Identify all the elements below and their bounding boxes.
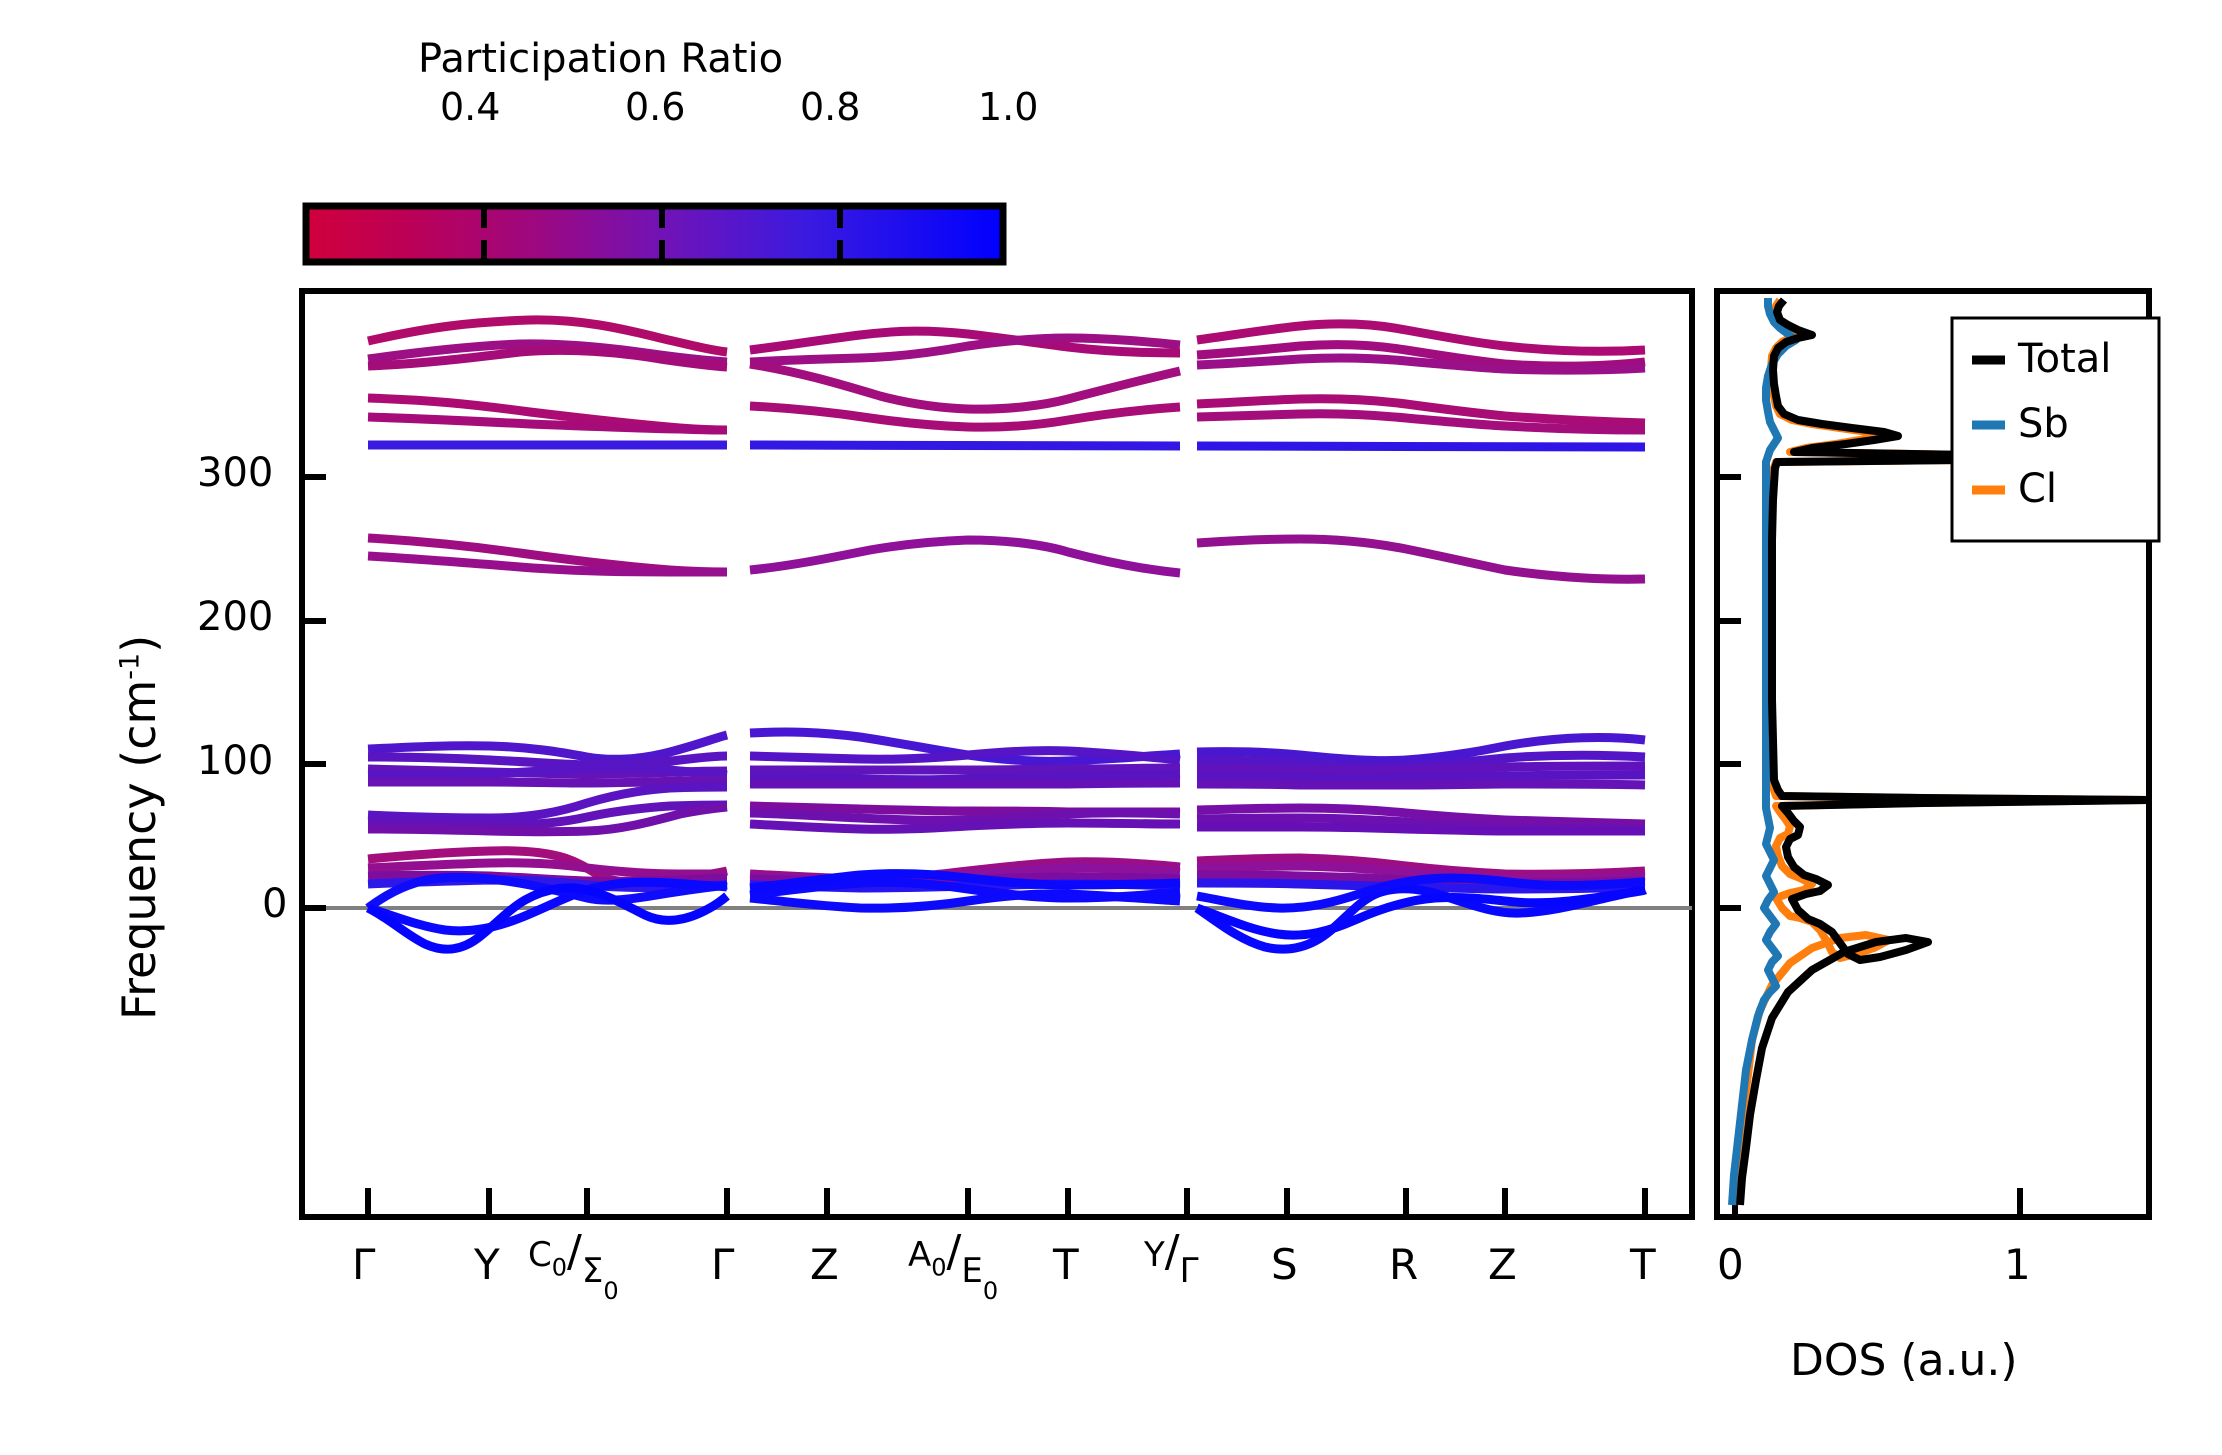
x-tick-label-0: Γ xyxy=(352,1240,375,1289)
x-tick-2-numerator-sub: 0 xyxy=(552,1253,567,1281)
x-tick-label-4: Z xyxy=(810,1240,839,1289)
y-tick-label-200: 200 xyxy=(197,594,273,640)
x-tick-5-numerator-sub: 0 xyxy=(931,1253,946,1281)
x-tick-7-numerator: Y xyxy=(1144,1235,1165,1275)
x-tick-label-1: Y xyxy=(474,1240,500,1289)
x-tick-label-7: Y/Γ xyxy=(1144,1226,1199,1277)
legend-label-sb: Sb xyxy=(2018,401,2069,447)
x-tick-5-denominator-sub: 0 xyxy=(983,1277,998,1305)
x-tick-5-numerator: A xyxy=(908,1235,931,1275)
legend-label-total: Total xyxy=(2018,336,2111,382)
x-tick-2-denominator: Σ xyxy=(582,1251,603,1291)
legend-label-cl: Cl xyxy=(2018,466,2057,512)
y-axis-label-tail: ) xyxy=(112,635,166,653)
y-tick-label-0: 0 xyxy=(262,881,287,927)
x-tick-label-6: T xyxy=(1053,1240,1079,1289)
y-tick-label-100: 100 xyxy=(197,738,273,784)
colorbar[interactable] xyxy=(306,206,1003,262)
y-axis-label: Frequency (cm-1) xyxy=(112,635,166,1020)
figure-svg xyxy=(0,0,2222,1455)
figure-canvas: Participation Ratio 0.4 0.6 0.8 1.0 xyxy=(0,0,2222,1455)
colorbar-gradient xyxy=(306,206,1003,262)
dos-panel[interactable] xyxy=(1717,291,2159,1217)
x-tick-label-9: R xyxy=(1389,1240,1418,1289)
x-tick-5-denominator: E xyxy=(961,1251,982,1291)
x-tick-2-denominator-sub: 0 xyxy=(603,1277,618,1305)
x-tick-label-11: T xyxy=(1630,1240,1656,1289)
x-tick-label-5: A0/E0 xyxy=(908,1226,998,1281)
bands-panel[interactable] xyxy=(302,291,1692,1217)
y-axis-label-main: Frequency (cm xyxy=(112,680,166,1020)
x-tick-2-numerator: C xyxy=(528,1235,552,1275)
x-tick-7-denominator: Γ xyxy=(1180,1251,1199,1291)
y-axis-label-exponent: -1 xyxy=(115,653,146,680)
y-tick-label-300: 300 xyxy=(197,450,273,496)
dos-x-tick-label-1: 1 xyxy=(2004,1240,2031,1289)
x-tick-label-2: C0/Σ0 xyxy=(528,1226,619,1281)
x-tick-label-3: Γ xyxy=(711,1240,734,1289)
x-tick-label-8: S xyxy=(1271,1240,1298,1289)
x-tick-label-10: Z xyxy=(1488,1240,1517,1289)
dos-x-tick-label-0: 0 xyxy=(1717,1240,1744,1289)
dos-x-axis-label: DOS (a.u.) xyxy=(1790,1335,2018,1386)
